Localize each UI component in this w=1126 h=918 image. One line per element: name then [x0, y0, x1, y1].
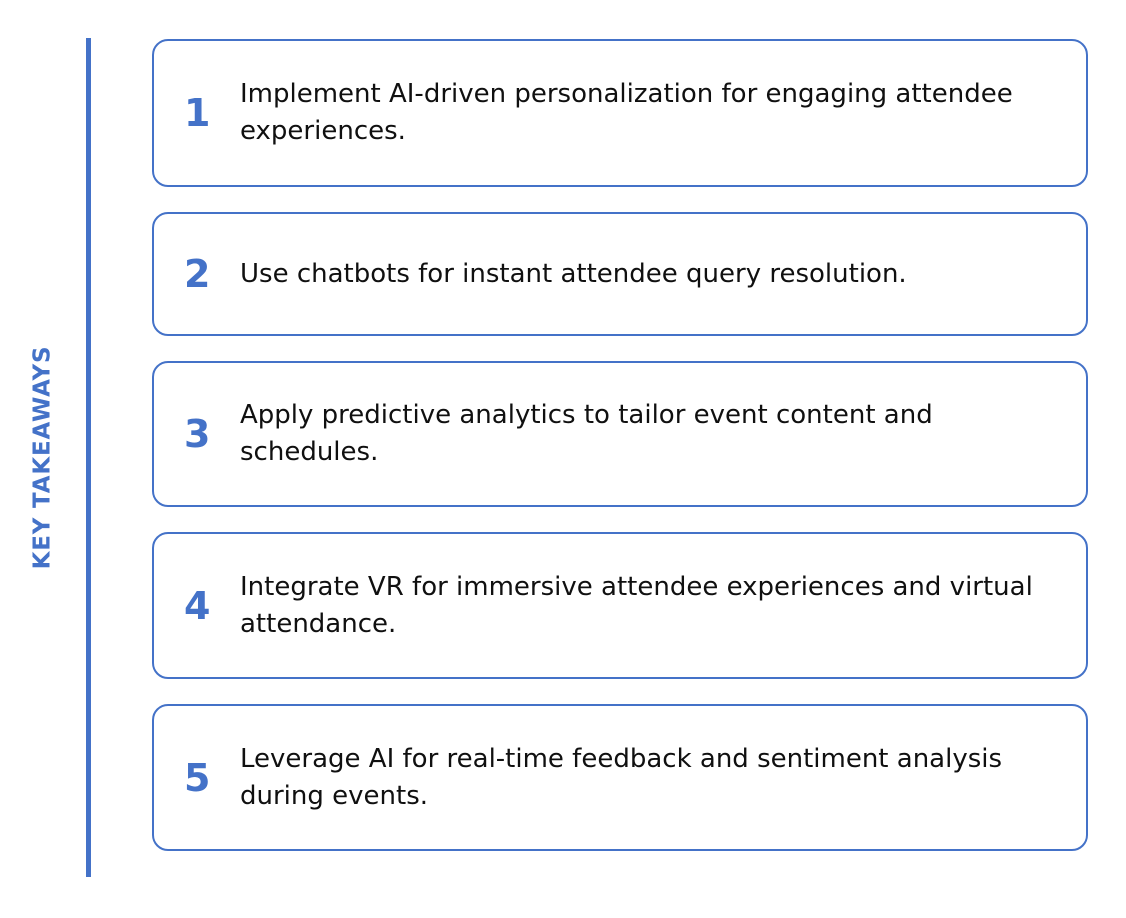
takeaway-number: 1 — [184, 94, 240, 132]
takeaway-card[interactable]: 4 Integrate VR for immersive attendee ex… — [152, 532, 1088, 679]
takeaway-number: 4 — [184, 587, 240, 625]
key-takeaways-infographic: KEY TAKEAWAYS 1 Implement AI-driven pers… — [0, 0, 1126, 918]
takeaway-number: 3 — [184, 415, 240, 453]
takeaway-number: 2 — [184, 255, 240, 293]
takeaway-card[interactable]: 1 Implement AI-driven personalization fo… — [152, 39, 1088, 187]
vertical-accent-bar — [86, 38, 91, 877]
takeaway-text: Integrate VR for immersive attendee expe… — [240, 569, 1060, 643]
vertical-title-container: KEY TAKEAWAYS — [0, 38, 86, 877]
takeaway-text: Implement AI-driven personalization for … — [240, 76, 1060, 150]
takeaway-text: Apply predictive analytics to tailor eve… — [240, 397, 1060, 471]
left-rail: KEY TAKEAWAYS — [0, 38, 152, 877]
takeaway-card[interactable]: 3 Apply predictive analytics to tailor e… — [152, 361, 1088, 507]
takeaway-card[interactable]: 2 Use chatbots for instant attendee quer… — [152, 212, 1088, 336]
takeaway-text: Use chatbots for instant attendee query … — [240, 256, 1060, 293]
takeaway-card[interactable]: 5 Leverage AI for real-time feedback and… — [152, 704, 1088, 851]
page-title: KEY TAKEAWAYS — [32, 346, 55, 570]
takeaway-card-list: 1 Implement AI-driven personalization fo… — [152, 39, 1088, 851]
takeaway-number: 5 — [184, 759, 240, 797]
takeaway-text: Leverage AI for real-time feedback and s… — [240, 741, 1060, 815]
